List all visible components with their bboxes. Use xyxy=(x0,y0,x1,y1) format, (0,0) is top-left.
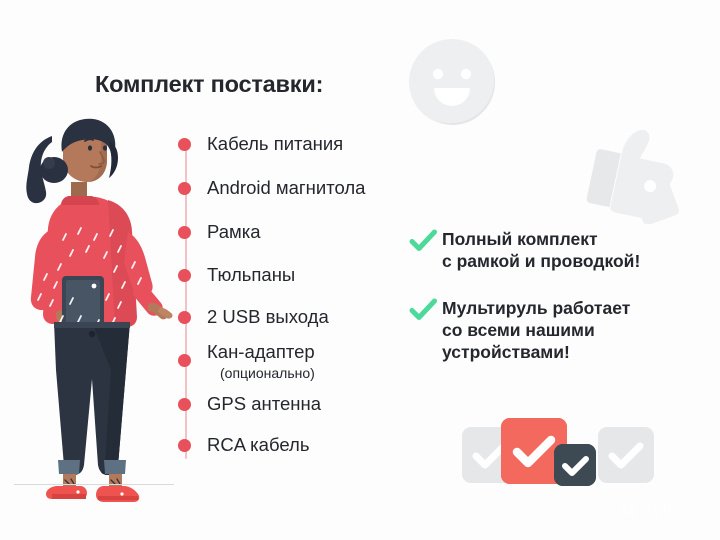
bullet-dot xyxy=(178,138,191,151)
bullet-dot xyxy=(178,398,191,411)
list-item-label: Android магнитола xyxy=(207,177,365,199)
woman-pointing-illustration xyxy=(8,108,178,508)
smiley-face-icon xyxy=(404,34,500,130)
green-check-icon xyxy=(409,296,437,324)
avito-logo-icon xyxy=(620,501,637,518)
checkbox-decoration-group xyxy=(458,408,648,490)
highlight-item-full-kit: Полный комплект с рамкой и проводкой! xyxy=(409,228,640,272)
list-item-label: 2 USB выхода xyxy=(207,306,329,328)
listing-image: Комплект поставки: Кабель питания Androi… xyxy=(0,0,720,540)
dark-checkbox xyxy=(554,444,596,486)
list-item-sublabel: (опционально) xyxy=(220,365,315,381)
list-item-label: GPS антенна xyxy=(207,393,321,415)
bullet-dot xyxy=(178,226,191,239)
highlight-item-multisteering: Мультируль работает со всеми нашими устр… xyxy=(409,297,630,363)
avito-watermark-text: Avito xyxy=(640,500,685,519)
gray-checkbox-right xyxy=(598,427,654,483)
list-item-label: Кабель питания xyxy=(207,133,343,155)
page-title: Комплект поставки: xyxy=(95,71,323,98)
highlight-text: Полный комплект с рамкой и проводкой! xyxy=(442,228,640,272)
list-item-label: Кан-адаптер xyxy=(207,341,315,363)
list-item-label: Тюльпаны xyxy=(207,264,295,286)
highlight-text: Мультируль работает со всеми нашими устр… xyxy=(442,297,630,363)
avito-watermark: Avito xyxy=(620,500,685,519)
thumbs-up-icon xyxy=(578,112,686,224)
green-check-icon xyxy=(409,227,437,255)
list-item-label: Рамка xyxy=(207,221,261,243)
bullet-dot xyxy=(178,439,191,452)
list-item-label: RCA кабель xyxy=(207,434,309,456)
bullet-dot xyxy=(178,269,191,282)
bullet-dot xyxy=(178,354,191,367)
bullet-dot xyxy=(178,311,191,324)
ground-line xyxy=(14,484,174,485)
bullet-dot xyxy=(178,182,191,195)
